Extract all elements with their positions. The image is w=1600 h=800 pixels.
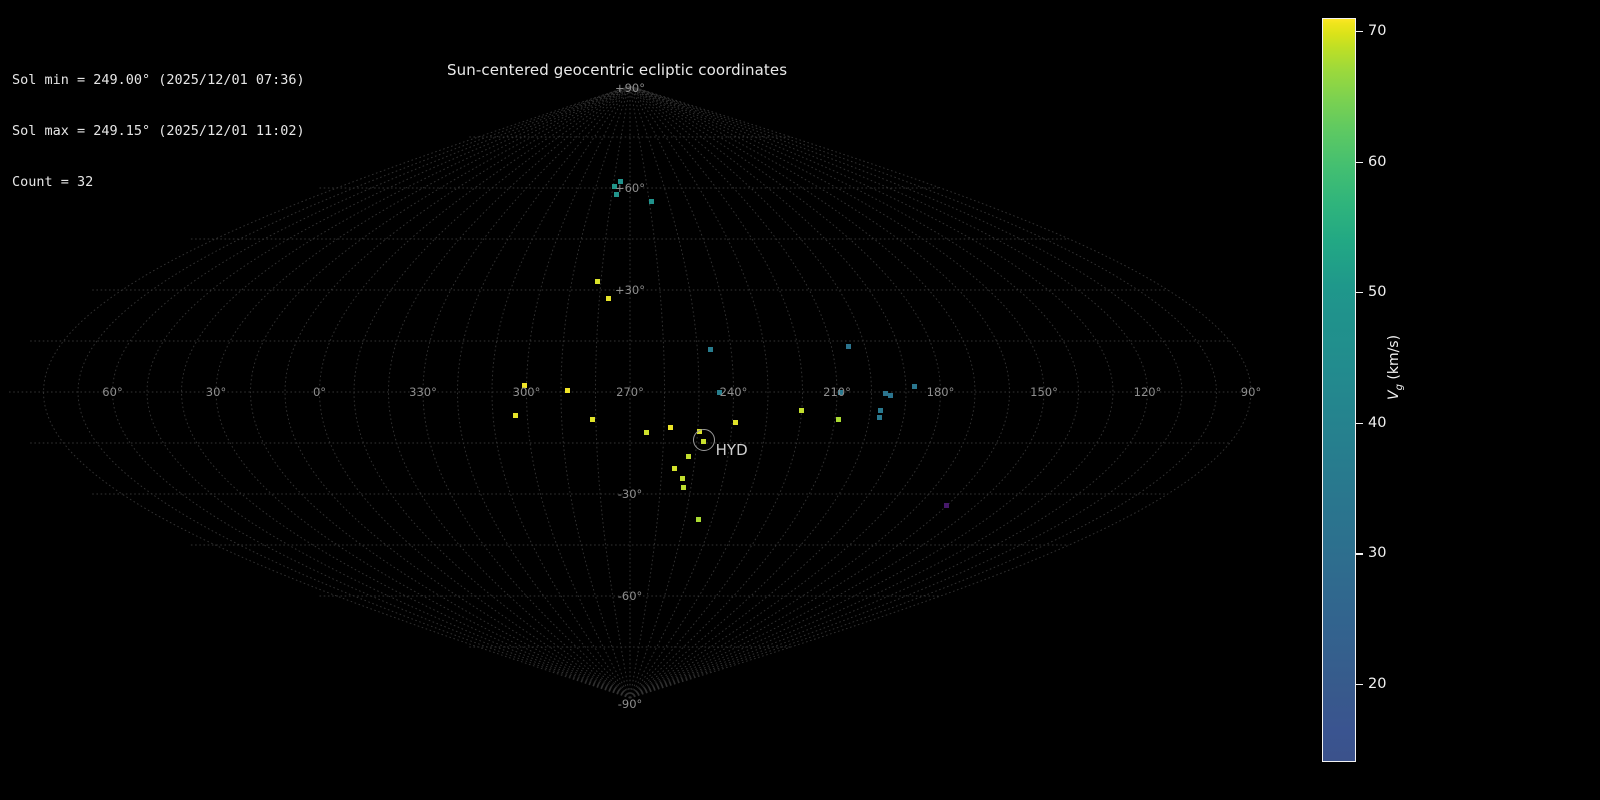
radiant-point xyxy=(672,466,677,471)
lat-tick-label: +60° xyxy=(615,181,645,195)
lon-tick-label: 210° xyxy=(823,385,851,399)
radiant-point xyxy=(944,503,949,508)
radiant-point xyxy=(888,393,893,398)
lat-tick-label: -60° xyxy=(618,589,643,603)
colorbar-tick xyxy=(1356,684,1363,685)
hyd-shower-circle-icon xyxy=(693,429,715,451)
lon-tick-label: 30° xyxy=(206,385,226,399)
radiant-point xyxy=(565,388,570,393)
hyd-shower-label: HYD xyxy=(716,441,748,459)
radiant-point xyxy=(708,347,713,352)
radiant-point xyxy=(680,476,685,481)
lat-tick-label: +90° xyxy=(615,81,645,95)
radiant-point xyxy=(877,415,882,420)
colorbar-tick-label: 50 xyxy=(1368,284,1386,300)
colorbar-tick xyxy=(1356,292,1363,293)
colorbar-tick xyxy=(1356,553,1363,554)
lon-tick-label: 300° xyxy=(513,385,541,399)
lon-tick-label: 120° xyxy=(1134,385,1162,399)
projection-grid xyxy=(0,0,1290,800)
meteor-radiant-map: Sol min = 249.00° (2025/12/01 07:36) Sol… xyxy=(0,0,1600,800)
radiant-point xyxy=(878,408,883,413)
radiant-point xyxy=(681,485,686,490)
colorbar-tick xyxy=(1356,162,1363,163)
radiant-point xyxy=(595,279,600,284)
radiant-point xyxy=(799,408,804,413)
lat-tick-label: -30° xyxy=(618,487,643,501)
colorbar-tick-label: 40 xyxy=(1368,415,1386,431)
sky-map-plot: 60°30°0°330°300°270°240°210°180°150°120°… xyxy=(0,0,1290,800)
radiant-point xyxy=(649,199,654,204)
radiant-point xyxy=(686,454,691,459)
lon-tick-label: 240° xyxy=(720,385,748,399)
lon-tick-label: 180° xyxy=(927,385,955,399)
radiant-point xyxy=(513,413,518,418)
lon-tick-label: 0° xyxy=(313,385,326,399)
colorbar-tick xyxy=(1356,31,1363,32)
colorbar-tick-label: 30 xyxy=(1368,545,1386,561)
colorbar-tick-label: 70 xyxy=(1368,23,1386,39)
radiant-point xyxy=(846,344,851,349)
radiant-point xyxy=(644,430,649,435)
colorbar: 203040506070 xyxy=(1322,18,1356,762)
radiant-point xyxy=(606,296,611,301)
lat-tick-label: -90° xyxy=(618,697,643,711)
lon-tick-label: 330° xyxy=(409,385,437,399)
colorbar-tick xyxy=(1356,423,1363,424)
radiant-point xyxy=(696,517,701,522)
radiant-point xyxy=(836,417,841,422)
colorbar-axis-label: Vg (km/s) xyxy=(1386,335,1405,400)
lon-tick-label: 150° xyxy=(1030,385,1058,399)
lon-tick-label: 60° xyxy=(102,385,122,399)
radiant-point xyxy=(590,417,595,422)
radiant-point xyxy=(912,384,917,389)
lat-tick-label: +30° xyxy=(615,283,645,297)
colorbar-tick-label: 60 xyxy=(1368,154,1386,170)
radiant-point xyxy=(668,425,673,430)
colorbar-tick-label: 20 xyxy=(1368,676,1386,692)
lon-tick-label: 270° xyxy=(616,385,644,399)
radiant-point xyxy=(733,420,738,425)
lon-tick-label: 90° xyxy=(1241,385,1261,399)
colorbar-gradient xyxy=(1322,18,1356,762)
